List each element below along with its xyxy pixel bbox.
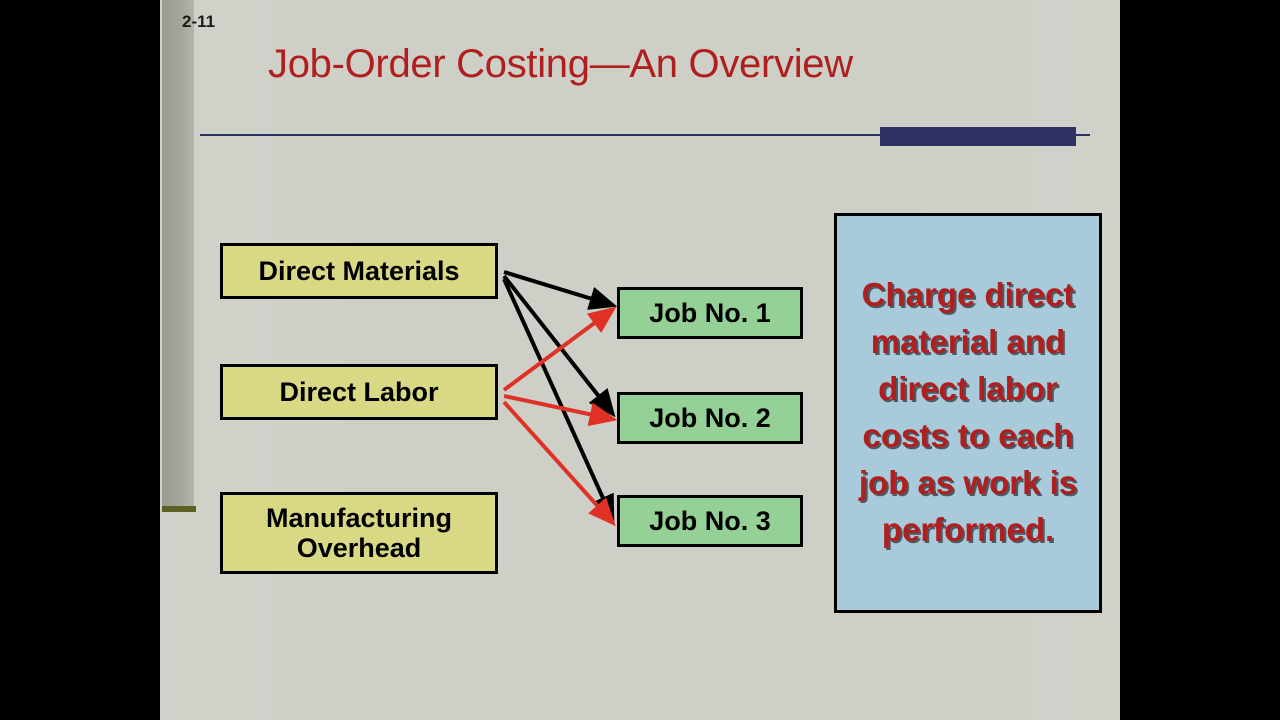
cost-box-manufacturing-overhead[interactable]: Manufacturing Overhead [220,492,498,574]
cost-box-label: Direct Labor [279,377,438,407]
left-band-rule [162,506,196,512]
arrow-direct-labor-to-job-2 [504,396,612,419]
cost-box-label: Manufacturing Overhead [223,503,495,563]
cost-box-direct-labor[interactable]: Direct Labor [220,364,498,420]
page-title: Job-Order Costing—An Overview [268,42,1068,87]
arrow-direct-labor-to-job-1 [504,310,612,390]
arrow-direct-materials-to-job-2 [504,276,612,413]
arrow-direct-labor-to-job-3 [504,402,612,522]
left-decorative-band [162,0,194,512]
job-box-label: Job No. 1 [649,298,771,328]
slide-canvas: 2-11 Job-Order Costing—An Overview [160,0,1120,720]
callout-text: Charge direct material and direct labor … [847,272,1089,553]
cost-box-direct-materials[interactable]: Direct Materials [220,243,498,299]
arrow-direct-materials-to-job-3 [504,279,612,518]
slide-viewport: 2-11 Job-Order Costing—An Overview [0,0,1280,720]
arrow-direct-materials-to-job-1 [504,272,612,305]
title-divider-accent-bar [880,127,1076,146]
job-box-job-1[interactable]: Job No. 1 [617,287,803,339]
cost-box-label: Direct Materials [258,256,459,286]
job-box-label: Job No. 3 [649,506,771,536]
job-box-job-3[interactable]: Job No. 3 [617,495,803,547]
page-number: 2-11 [182,12,215,32]
job-box-job-2[interactable]: Job No. 2 [617,392,803,444]
callout-panel[interactable]: Charge direct material and direct labor … [834,213,1102,613]
job-box-label: Job No. 2 [649,403,771,433]
